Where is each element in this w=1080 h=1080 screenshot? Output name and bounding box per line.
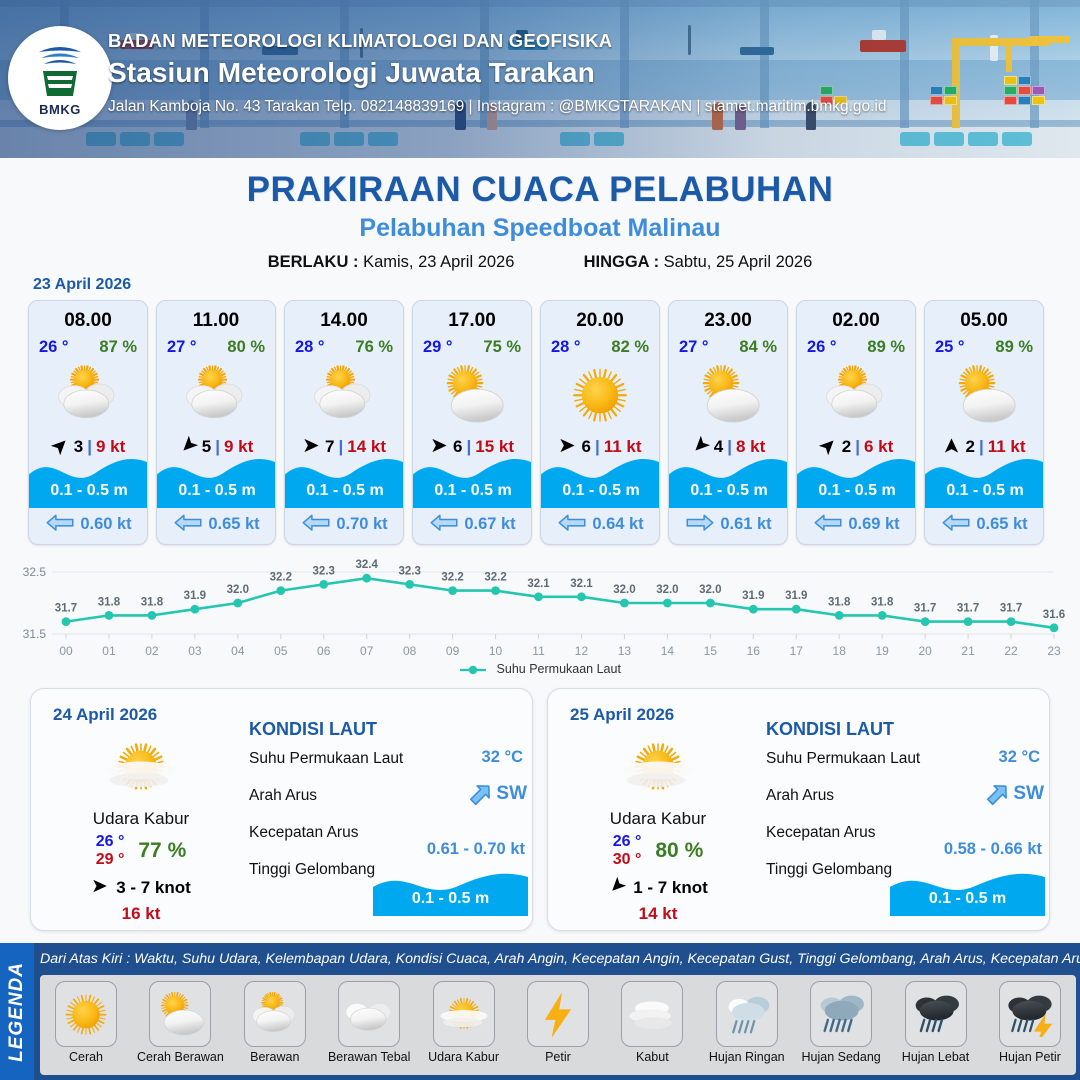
hourly-card: 23.00 27 ° 84 % 4 | 8 kt 0.1 bbox=[668, 300, 788, 545]
legend-note: Dari Atas Kiri : Waktu, Suhu Udara, Kele… bbox=[40, 951, 1076, 967]
svg-text:20: 20 bbox=[918, 644, 932, 658]
svg-text:06: 06 bbox=[317, 644, 331, 658]
svg-text:05: 05 bbox=[274, 644, 288, 658]
wave-height-label: Tinggi Gelombang bbox=[249, 861, 375, 879]
card-current-speed: 0.65 kt bbox=[208, 515, 259, 534]
current-speed-label: Kecepatan Arus bbox=[249, 824, 358, 842]
page-title: PRAKIRAAN CUACA PELABUHAN bbox=[0, 170, 1080, 210]
svg-text:07: 07 bbox=[360, 644, 374, 658]
card-current-speed: 0.64 kt bbox=[592, 515, 643, 534]
hourly-card: 11.00 27 ° 80 % 5 | 9 kt 0.1 bbox=[156, 300, 276, 545]
daily-forecast-row: 24 April 2026 Udara Kabur 26 ° 29 ° 77 % bbox=[30, 688, 1050, 931]
card-wave-height: 0.1 - 0.5 m bbox=[413, 482, 532, 500]
card-weather-icon-cerah-berawan bbox=[413, 363, 531, 425]
svg-text:00: 00 bbox=[59, 644, 73, 658]
card-humidity: 75 % bbox=[483, 338, 521, 357]
card-humidity: 82 % bbox=[611, 338, 649, 357]
svg-text:03: 03 bbox=[188, 644, 202, 658]
daily-wind-range: 1 - 7 knot bbox=[633, 878, 708, 898]
arrow-sw-icon bbox=[468, 781, 494, 807]
station-name: Stasiun Meteorologi Juwata Tarakan bbox=[108, 57, 887, 89]
card-current-row: 0.65 kt bbox=[925, 514, 1044, 536]
svg-text:31.9: 31.9 bbox=[785, 590, 807, 602]
svg-text:31.9: 31.9 bbox=[184, 590, 206, 602]
svg-text:08: 08 bbox=[403, 644, 417, 658]
daily-gust: 16 kt bbox=[41, 904, 241, 924]
daily-wind-direction-icon bbox=[608, 877, 626, 900]
legend-icon-kabut bbox=[621, 981, 683, 1047]
sst-label: Suhu Permukaan Laut bbox=[249, 750, 403, 768]
arrow-left-icon bbox=[430, 514, 458, 531]
bmkg-logo: BMKG bbox=[8, 26, 112, 130]
legend-item-label: Berawan bbox=[250, 1050, 299, 1064]
hourly-forecast-row: 08.00 26 ° 87 % 3 | 9 kt 0.1 bbox=[28, 300, 1052, 545]
svg-text:31.7: 31.7 bbox=[914, 603, 936, 615]
current-speed-row: Kecepatan Arus 0.61 - 0.70 kt bbox=[249, 818, 529, 855]
legend-item-label: Kabut bbox=[636, 1050, 669, 1064]
daily-temp-row: 26 ° 29 ° 77 % bbox=[41, 833, 241, 870]
svg-text:15: 15 bbox=[704, 644, 718, 658]
daily-wave-value: 0.1 - 0.5 m bbox=[890, 890, 1045, 908]
svg-text:31.7: 31.7 bbox=[55, 603, 77, 615]
daily-weather-icon-udara-kabur bbox=[558, 733, 758, 807]
svg-text:31.9: 31.9 bbox=[742, 590, 764, 602]
card-time: 23.00 bbox=[669, 310, 787, 332]
legend-item: Berawan bbox=[233, 981, 317, 1064]
svg-text:22: 22 bbox=[1004, 644, 1018, 658]
daily-humidity: 80 % bbox=[655, 839, 703, 863]
berlaku-label: BERLAKU : bbox=[268, 253, 359, 271]
legend-side-title: LEGENDA bbox=[6, 962, 28, 1062]
chart-legend-label: Suhu Permukaan Laut bbox=[497, 662, 621, 676]
svg-text:31.7: 31.7 bbox=[957, 603, 979, 615]
card-current-row: 0.67 kt bbox=[413, 514, 532, 536]
card-temperature: 25 ° bbox=[935, 338, 965, 357]
svg-text:19: 19 bbox=[875, 644, 889, 658]
daily-condition: Udara Kabur bbox=[558, 809, 758, 829]
daily-temp-max: 30 ° bbox=[613, 851, 642, 869]
svg-text:32.0: 32.0 bbox=[656, 584, 678, 596]
current-direction-label: Arah Arus bbox=[766, 787, 834, 805]
current-direction-value-group: SW bbox=[468, 781, 527, 807]
card-time: 11.00 bbox=[157, 310, 275, 332]
legend-item-label: Hujan Lebat bbox=[902, 1050, 969, 1064]
validity-row: BERLAKU : Kamis, 23 April 2026 HINGGA : … bbox=[0, 253, 1080, 272]
agency-name: BADAN METEOROLOGI KLIMATOLOGI DAN GEOFIS… bbox=[108, 30, 887, 52]
card-time: 17.00 bbox=[413, 310, 531, 332]
daily-humidity: 77 % bbox=[138, 839, 186, 863]
card-current-speed: 0.65 kt bbox=[976, 515, 1027, 534]
legend-item-label: Hujan Ringan bbox=[709, 1050, 785, 1064]
svg-text:32.4: 32.4 bbox=[356, 559, 379, 571]
svg-text:13: 13 bbox=[618, 644, 632, 658]
card-temperature: 27 ° bbox=[679, 338, 709, 357]
daily-wave-value: 0.1 - 0.5 m bbox=[373, 890, 528, 908]
bmkg-logo-text: BMKG bbox=[39, 102, 81, 117]
berlaku-value: Kamis, 23 April 2026 bbox=[363, 253, 514, 271]
arrow-w-icon bbox=[91, 877, 109, 895]
legend-item-label: Hujan Petir bbox=[999, 1050, 1061, 1064]
sst-value: 32 °C bbox=[482, 748, 523, 767]
legend-item: Udara Kabur bbox=[422, 981, 506, 1064]
daily-condition: Udara Kabur bbox=[41, 809, 241, 829]
card-current-row: 0.60 kt bbox=[29, 514, 148, 536]
card-temperature: 29 ° bbox=[423, 338, 453, 357]
hourly-card: 20.00 28 ° 82 % 6 | 11 kt 0.1 bbox=[540, 300, 660, 545]
svg-text:09: 09 bbox=[446, 644, 460, 658]
svg-text:18: 18 bbox=[833, 644, 847, 658]
legend-item-label: Hujan Sedang bbox=[802, 1050, 881, 1064]
card-current-speed: 0.61 kt bbox=[720, 515, 771, 534]
legend-icon-hujan-lebat bbox=[905, 981, 967, 1047]
card-humidity: 87 % bbox=[99, 338, 137, 357]
svg-text:16: 16 bbox=[747, 644, 761, 658]
arrow-left-icon bbox=[558, 514, 586, 531]
card-weather-icon-berawan bbox=[285, 363, 403, 425]
svg-text:21: 21 bbox=[961, 644, 975, 658]
card-temperature: 26 ° bbox=[807, 338, 837, 357]
legend-icon-udara-kabur bbox=[433, 981, 495, 1047]
card-wave-height: 0.1 - 0.5 m bbox=[285, 482, 404, 500]
current-direction-icon bbox=[302, 514, 330, 536]
chart-legend: Suhu Permukaan Laut bbox=[0, 662, 1080, 676]
legend-item-label: Cerah bbox=[69, 1050, 103, 1064]
daily-forecast-card: 24 April 2026 Udara Kabur 26 ° 29 ° 77 % bbox=[30, 688, 533, 931]
svg-text:17: 17 bbox=[790, 644, 804, 658]
chart-legend-marker-icon bbox=[459, 664, 487, 676]
current-direction-icon bbox=[174, 514, 202, 536]
card-current-speed: 0.60 kt bbox=[80, 515, 131, 534]
card-humidity: 76 % bbox=[355, 338, 393, 357]
arrow-left-icon bbox=[302, 514, 330, 531]
legend-bar: LEGENDA Dari Atas Kiri : Waktu, Suhu Uda… bbox=[0, 943, 1080, 1080]
legend-item: Hujan Ringan bbox=[705, 981, 789, 1064]
sea-conditions-title: KONDISI LAUT bbox=[249, 719, 529, 740]
svg-text:02: 02 bbox=[145, 644, 159, 658]
current-direction-icon bbox=[46, 514, 74, 536]
svg-text:32.2: 32.2 bbox=[270, 572, 292, 584]
card-humidity: 89 % bbox=[995, 338, 1033, 357]
current-direction-icon bbox=[942, 514, 970, 536]
card-current-speed: 0.70 kt bbox=[336, 515, 387, 534]
card-wave-height: 0.1 - 0.5 m bbox=[29, 482, 148, 500]
arrow-left-icon bbox=[174, 514, 202, 531]
daily-temp-min: 26 ° bbox=[96, 833, 125, 851]
card-current-row: 0.64 kt bbox=[541, 514, 660, 536]
legend-icon-berawan-tebal bbox=[338, 981, 400, 1047]
legend-item: Berawan Tebal bbox=[327, 981, 411, 1064]
current-direction-value: SW bbox=[1013, 783, 1044, 805]
svg-text:32.0: 32.0 bbox=[613, 584, 635, 596]
card-time: 05.00 bbox=[925, 310, 1043, 332]
svg-text:31.5: 31.5 bbox=[23, 627, 47, 641]
title-block: PRAKIRAAN CUACA PELABUHAN Pelabuhan Spee… bbox=[0, 158, 1080, 272]
card-current-row: 0.61 kt bbox=[669, 514, 788, 536]
current-direction-icon bbox=[814, 514, 842, 536]
current-direction-value-group: SW bbox=[985, 781, 1044, 807]
svg-text:01: 01 bbox=[102, 644, 116, 658]
daily-date: 24 April 2026 bbox=[53, 705, 157, 725]
card-weather-icon-berawan bbox=[157, 363, 275, 425]
hourly-card: 14.00 28 ° 76 % 7 | 14 kt 0.1 bbox=[284, 300, 404, 545]
svg-text:12: 12 bbox=[575, 644, 589, 658]
card-weather-icon-berawan bbox=[29, 363, 147, 425]
daily-left-column: Udara Kabur 26 ° 29 ° 77 % 3 - 7 knot 16… bbox=[41, 733, 241, 924]
card-temperature: 27 ° bbox=[167, 338, 197, 357]
svg-text:32.3: 32.3 bbox=[398, 565, 420, 577]
legend-icon-hujan-petir bbox=[999, 981, 1061, 1047]
arrow-right-icon bbox=[686, 514, 714, 531]
sst-label: Suhu Permukaan Laut bbox=[766, 750, 920, 768]
current-direction-row: Arah Arus SW bbox=[249, 781, 529, 818]
card-current-row: 0.70 kt bbox=[285, 514, 404, 536]
daily-date: 25 April 2026 bbox=[570, 705, 674, 725]
card-current-speed: 0.69 kt bbox=[848, 515, 899, 534]
daily-wind-range: 3 - 7 knot bbox=[116, 878, 191, 898]
daily-wind-row: 1 - 7 knot bbox=[558, 877, 758, 900]
svg-text:11: 11 bbox=[532, 644, 545, 658]
card-weather-icon-cerah-berawan bbox=[669, 363, 787, 425]
daily-temp-row: 26 ° 30 ° 80 % bbox=[558, 833, 758, 870]
current-direction-icon bbox=[558, 514, 586, 536]
card-wave-height: 0.1 - 0.5 m bbox=[925, 482, 1044, 500]
legend-item: Kabut bbox=[610, 981, 694, 1064]
svg-text:32.1: 32.1 bbox=[527, 578, 550, 590]
svg-text:31.8: 31.8 bbox=[828, 596, 851, 608]
svg-text:04: 04 bbox=[231, 644, 245, 658]
legend-item: Hujan Petir bbox=[988, 981, 1072, 1064]
card-weather-icon-cerah-berawan bbox=[925, 363, 1043, 425]
forecast-day-label: 23 April 2026 bbox=[33, 276, 131, 294]
card-time: 02.00 bbox=[797, 310, 915, 332]
card-wave-height: 0.1 - 0.5 m bbox=[157, 482, 276, 500]
svg-text:14: 14 bbox=[661, 644, 675, 658]
svg-text:31.6: 31.6 bbox=[1043, 609, 1065, 621]
legend-icon-berawan bbox=[244, 981, 306, 1047]
svg-text:31.8: 31.8 bbox=[98, 596, 121, 608]
card-current-row: 0.65 kt bbox=[157, 514, 276, 536]
sst-row: Suhu Permukaan Laut 32 °C bbox=[249, 744, 529, 781]
current-speed-row: Kecepatan Arus 0.58 - 0.66 kt bbox=[766, 818, 1046, 855]
card-humidity: 80 % bbox=[227, 338, 265, 357]
card-weather-icon-cerah bbox=[541, 363, 659, 425]
svg-text:32.0: 32.0 bbox=[227, 584, 249, 596]
svg-text:32.2: 32.2 bbox=[441, 572, 463, 584]
daily-left-column: Udara Kabur 26 ° 30 ° 80 % 1 - 7 knot 14… bbox=[558, 733, 758, 924]
arrow-ne-icon bbox=[608, 877, 626, 895]
legend-item: Cerah Berawan bbox=[138, 981, 222, 1064]
svg-text:31.7: 31.7 bbox=[1000, 603, 1022, 615]
arrow-left-icon bbox=[46, 514, 74, 531]
hourly-card: 08.00 26 ° 87 % 3 | 9 kt 0.1 bbox=[28, 300, 148, 545]
svg-text:32.1: 32.1 bbox=[570, 578, 593, 590]
legend-item: Petir bbox=[516, 981, 600, 1064]
arrow-left-icon bbox=[942, 514, 970, 531]
sst-row: Suhu Permukaan Laut 32 °C bbox=[766, 744, 1046, 781]
card-current-speed: 0.67 kt bbox=[464, 515, 515, 534]
legend-item: Hujan Lebat bbox=[894, 981, 978, 1064]
card-wave-height: 0.1 - 0.5 m bbox=[541, 482, 660, 500]
svg-text:32.5: 32.5 bbox=[23, 565, 47, 579]
sea-conditions-title: KONDISI LAUT bbox=[766, 719, 1046, 740]
daily-wind-row: 3 - 7 knot bbox=[41, 877, 241, 900]
card-current-row: 0.69 kt bbox=[797, 514, 916, 536]
hingga-value: Sabtu, 25 April 2026 bbox=[664, 253, 813, 271]
svg-text:31.8: 31.8 bbox=[141, 596, 164, 608]
daily-gust: 14 kt bbox=[558, 904, 758, 924]
sst-value: 32 °C bbox=[999, 748, 1040, 767]
hourly-card: 17.00 29 ° 75 % 6 | 15 kt 0.1 bbox=[412, 300, 532, 545]
card-temperature: 26 ° bbox=[39, 338, 69, 357]
current-direction-icon bbox=[686, 514, 714, 536]
legend-item-label: Berawan Tebal bbox=[328, 1050, 410, 1064]
legend-item-label: Udara Kabur bbox=[428, 1050, 499, 1064]
svg-text:23: 23 bbox=[1047, 644, 1061, 658]
current-direction-label: Arah Arus bbox=[249, 787, 317, 805]
daily-wind-direction-icon bbox=[91, 877, 109, 900]
legend-icon-hujan-ringan bbox=[716, 981, 778, 1047]
card-humidity: 89 % bbox=[867, 338, 905, 357]
svg-text:32.2: 32.2 bbox=[484, 572, 506, 584]
daily-weather-icon-udara-kabur bbox=[41, 733, 241, 807]
daily-forecast-card: 25 April 2026 Udara Kabur 26 ° 30 ° 80 % bbox=[547, 688, 1050, 931]
svg-text:32.3: 32.3 bbox=[313, 565, 335, 577]
svg-text:31.8: 31.8 bbox=[871, 596, 894, 608]
legend-item-label: Cerah Berawan bbox=[137, 1050, 224, 1064]
card-temperature: 28 ° bbox=[295, 338, 325, 357]
card-wave-height: 0.1 - 0.5 m bbox=[797, 482, 916, 500]
current-direction-icon bbox=[430, 514, 458, 536]
legend-icon-petir bbox=[527, 981, 589, 1047]
legend-item: Hujan Sedang bbox=[799, 981, 883, 1064]
daily-temp-min: 26 ° bbox=[613, 833, 642, 851]
legend-item-label: Petir bbox=[545, 1050, 571, 1064]
page-subtitle: Pelabuhan Speedboat Malinau bbox=[0, 214, 1080, 243]
svg-text:10: 10 bbox=[489, 644, 503, 658]
hourly-card: 05.00 25 ° 89 % 2 | 11 kt 0.1 bbox=[924, 300, 1044, 545]
hourly-card: 02.00 26 ° 89 % 2 | 6 kt 0.1 bbox=[796, 300, 916, 545]
legend-icon-row: Cerah Cerah Berawan Berawan bbox=[40, 975, 1076, 1075]
wave-height-label: Tinggi Gelombang bbox=[766, 861, 892, 879]
card-weather-icon-berawan bbox=[797, 363, 915, 425]
current-direction-value: SW bbox=[496, 783, 527, 805]
arrow-left-icon bbox=[814, 514, 842, 531]
legend-item: Cerah bbox=[44, 981, 128, 1064]
hingga-label: HINGGA : bbox=[584, 253, 659, 271]
current-speed-label: Kecepatan Arus bbox=[766, 824, 875, 842]
legend-icon-cerah-berawan bbox=[149, 981, 211, 1047]
contact-line: Jalan Kamboja No. 43 Tarakan Telp. 08214… bbox=[108, 98, 887, 116]
daily-temp-max: 29 ° bbox=[96, 851, 125, 869]
card-time: 20.00 bbox=[541, 310, 659, 332]
card-temperature: 28 ° bbox=[551, 338, 581, 357]
legend-icon-cerah bbox=[55, 981, 117, 1047]
card-wave-height: 0.1 - 0.5 m bbox=[669, 482, 788, 500]
current-direction-row: Arah Arus SW bbox=[766, 781, 1046, 818]
header-banner: BMKG BADAN METEOROLOGI KLIMATOLOGI DAN G… bbox=[0, 0, 1080, 158]
banner-text-block: BADAN METEOROLOGI KLIMATOLOGI DAN GEOFIS… bbox=[108, 30, 887, 116]
card-time: 08.00 bbox=[29, 310, 147, 332]
legend-icon-hujan-sedang bbox=[810, 981, 872, 1047]
card-humidity: 84 % bbox=[739, 338, 777, 357]
legend-side-tab: LEGENDA bbox=[0, 943, 34, 1080]
svg-text:32.0: 32.0 bbox=[699, 584, 721, 596]
card-time: 14.00 bbox=[285, 310, 403, 332]
bmkg-logo-icon bbox=[31, 40, 89, 100]
arrow-sw-icon bbox=[985, 781, 1011, 807]
